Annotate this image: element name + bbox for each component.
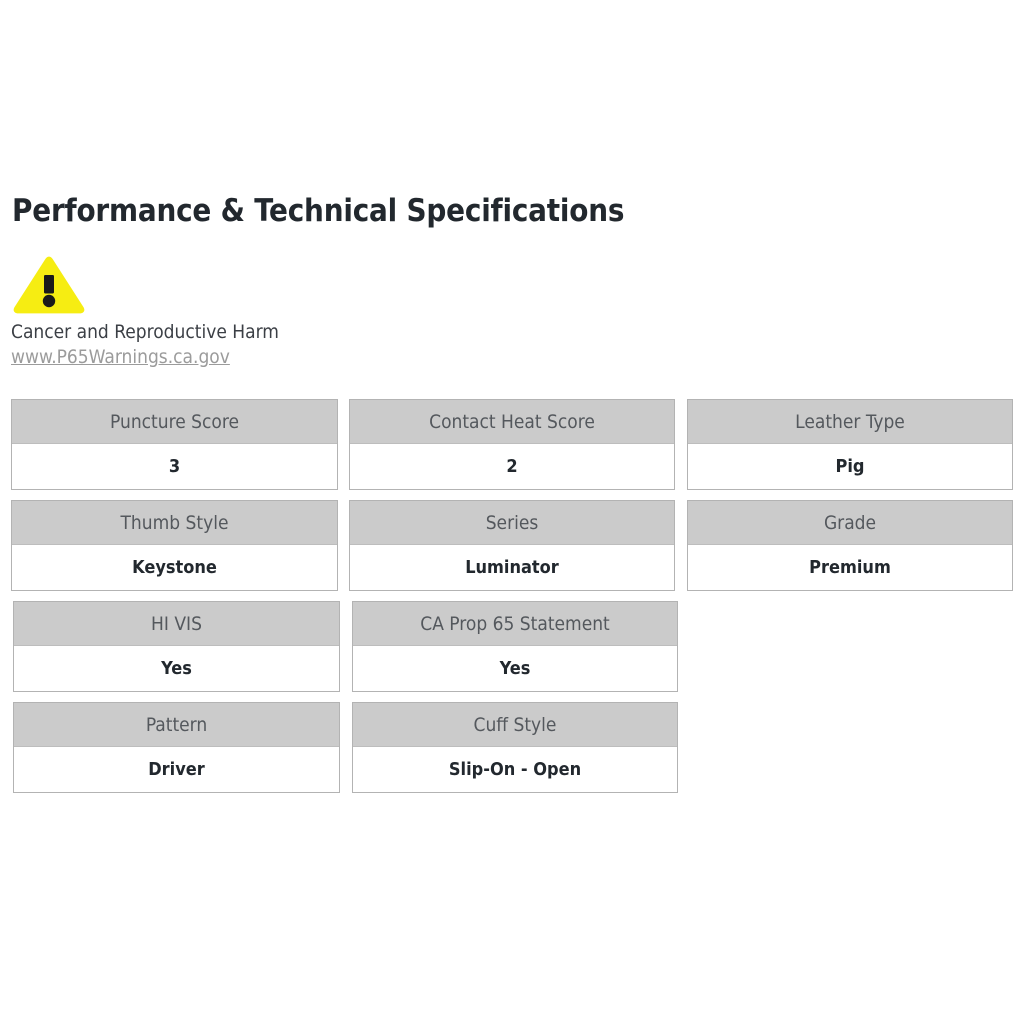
warning-triangle-icon	[13, 256, 85, 314]
spec-grid: Puncture Score 3 Contact Heat Score 2 Le…	[0, 399, 1024, 803]
spec-card-hi-vis: HI VIS Yes	[13, 601, 340, 692]
spec-card-value: Yes	[353, 646, 677, 691]
spec-card-leather-type: Leather Type Pig	[687, 399, 1013, 490]
spec-card-pattern: Pattern Driver	[13, 702, 340, 793]
spec-card-value: Yes	[14, 646, 339, 691]
spec-card-value: Premium	[688, 545, 1012, 590]
spec-card-series: Series Luminator	[349, 500, 675, 591]
prop65-warning-link[interactable]: www.P65Warnings.ca.gov	[11, 345, 230, 369]
spec-card-thumb-style: Thumb Style Keystone	[11, 500, 338, 591]
spec-card-puncture-score: Puncture Score 3	[11, 399, 338, 490]
spec-card-value: Driver	[14, 747, 339, 792]
spec-row: Puncture Score 3 Contact Heat Score 2 Le…	[0, 399, 1024, 500]
spec-card-value: 3	[12, 444, 337, 489]
spec-card-label: Pattern	[14, 703, 339, 747]
spec-card-label: Puncture Score	[12, 400, 337, 444]
spec-card-value: 2	[350, 444, 674, 489]
spec-row: HI VIS Yes CA Prop 65 Statement Yes	[0, 601, 1024, 702]
spec-card-label: Series	[350, 501, 674, 545]
spec-card-cuff-style: Cuff Style Slip-On - Open	[352, 702, 678, 793]
spec-card-label: Leather Type	[688, 400, 1012, 444]
spec-card-label: Contact Heat Score	[350, 400, 674, 444]
spec-card-label: CA Prop 65 Statement	[353, 602, 677, 646]
spec-card-value: Slip-On - Open	[353, 747, 677, 792]
spec-card-ca-prop-65-statement: CA Prop 65 Statement Yes	[352, 601, 678, 692]
specifications-page: Performance & Technical Specifications C…	[0, 0, 1024, 1024]
page-title: Performance & Technical Specifications	[12, 191, 624, 231]
spec-card-label: Grade	[688, 501, 1012, 545]
spec-card-grade: Grade Premium	[687, 500, 1013, 591]
spec-card-value: Keystone	[12, 545, 337, 590]
prop65-warning-text: Cancer and Reproductive Harm	[11, 320, 351, 344]
spec-row: Thumb Style Keystone Series Luminator Gr…	[0, 500, 1024, 601]
spec-row: Pattern Driver Cuff Style Slip-On - Open	[0, 702, 1024, 803]
spec-card-label: Cuff Style	[353, 703, 677, 747]
spec-card-label: HI VIS	[14, 602, 339, 646]
spec-card-value: Luminator	[350, 545, 674, 590]
spec-card-contact-heat-score: Contact Heat Score 2	[349, 399, 675, 490]
spec-card-value: Pig	[688, 444, 1012, 489]
spec-card-label: Thumb Style	[12, 501, 337, 545]
prop65-warning-block: Cancer and Reproductive Harm www.P65Warn…	[11, 256, 351, 369]
